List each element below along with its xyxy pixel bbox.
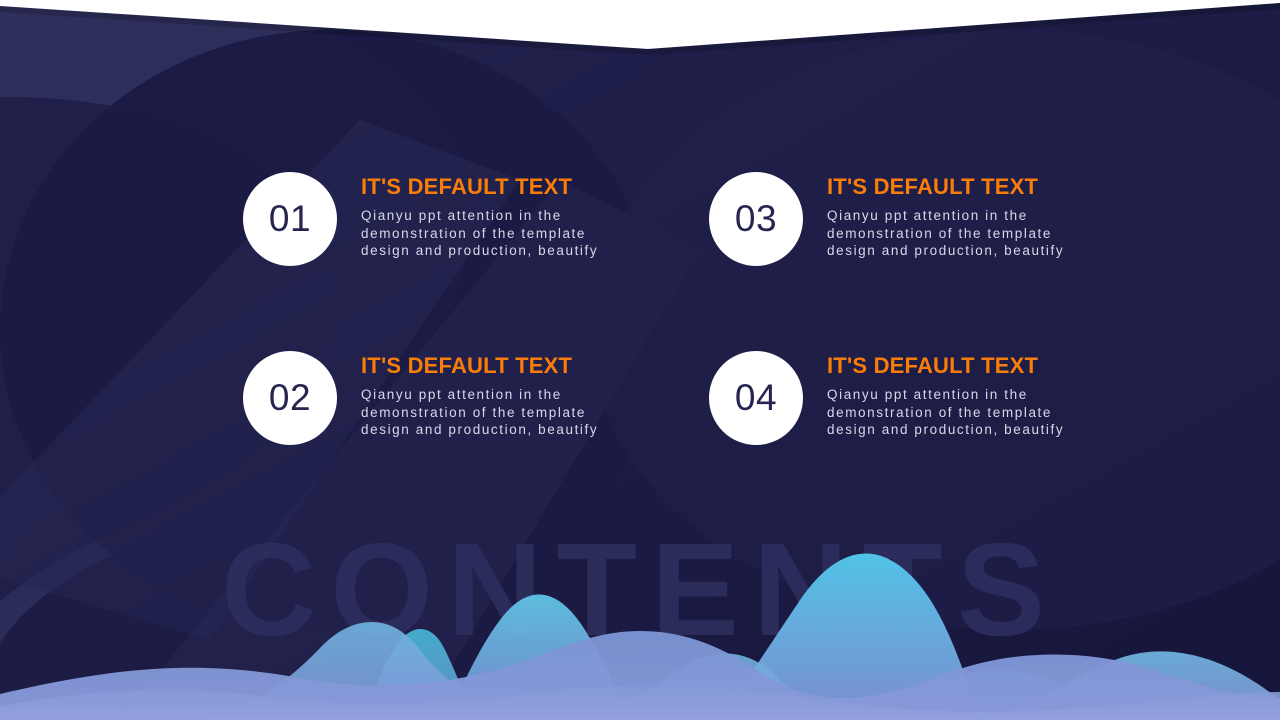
item-title: IT'S DEFAULT TEXT (827, 174, 1087, 200)
presentation-slide: CONTENTS (0, 0, 1280, 720)
item-description: Qianyu ppt attention in the demonstratio… (827, 207, 1087, 260)
item-description: Qianyu ppt attention in the demonstratio… (361, 386, 621, 439)
item-description: Qianyu ppt attention in the demonstratio… (361, 207, 621, 260)
content-item-02[interactable]: 02 IT'S DEFAULT TEXT Qianyu ppt attentio… (243, 351, 703, 445)
number-badge-02[interactable]: 02 (243, 351, 337, 445)
number-label: 02 (269, 377, 311, 419)
item-text-block: IT'S DEFAULT TEXT Qianyu ppt attention i… (827, 172, 1087, 260)
number-badge-03[interactable]: 03 (709, 172, 803, 266)
number-badge-04[interactable]: 04 (709, 351, 803, 445)
item-text-block: IT'S DEFAULT TEXT Qianyu ppt attention i… (361, 351, 621, 439)
number-label: 01 (269, 198, 311, 240)
content-grid: 01 IT'S DEFAULT TEXT Qianyu ppt attentio… (0, 0, 1280, 720)
content-item-04[interactable]: 04 IT'S DEFAULT TEXT Qianyu ppt attentio… (709, 351, 1169, 445)
item-text-block: IT'S DEFAULT TEXT Qianyu ppt attention i… (361, 172, 621, 260)
content-item-01[interactable]: 01 IT'S DEFAULT TEXT Qianyu ppt attentio… (243, 172, 703, 266)
item-text-block: IT'S DEFAULT TEXT Qianyu ppt attention i… (827, 351, 1087, 439)
item-title: IT'S DEFAULT TEXT (361, 174, 621, 200)
content-item-03[interactable]: 03 IT'S DEFAULT TEXT Qianyu ppt attentio… (709, 172, 1169, 266)
number-label: 04 (735, 377, 777, 419)
item-title: IT'S DEFAULT TEXT (827, 353, 1087, 379)
item-description: Qianyu ppt attention in the demonstratio… (827, 386, 1087, 439)
number-label: 03 (735, 198, 777, 240)
item-title: IT'S DEFAULT TEXT (361, 353, 621, 379)
number-badge-01[interactable]: 01 (243, 172, 337, 266)
